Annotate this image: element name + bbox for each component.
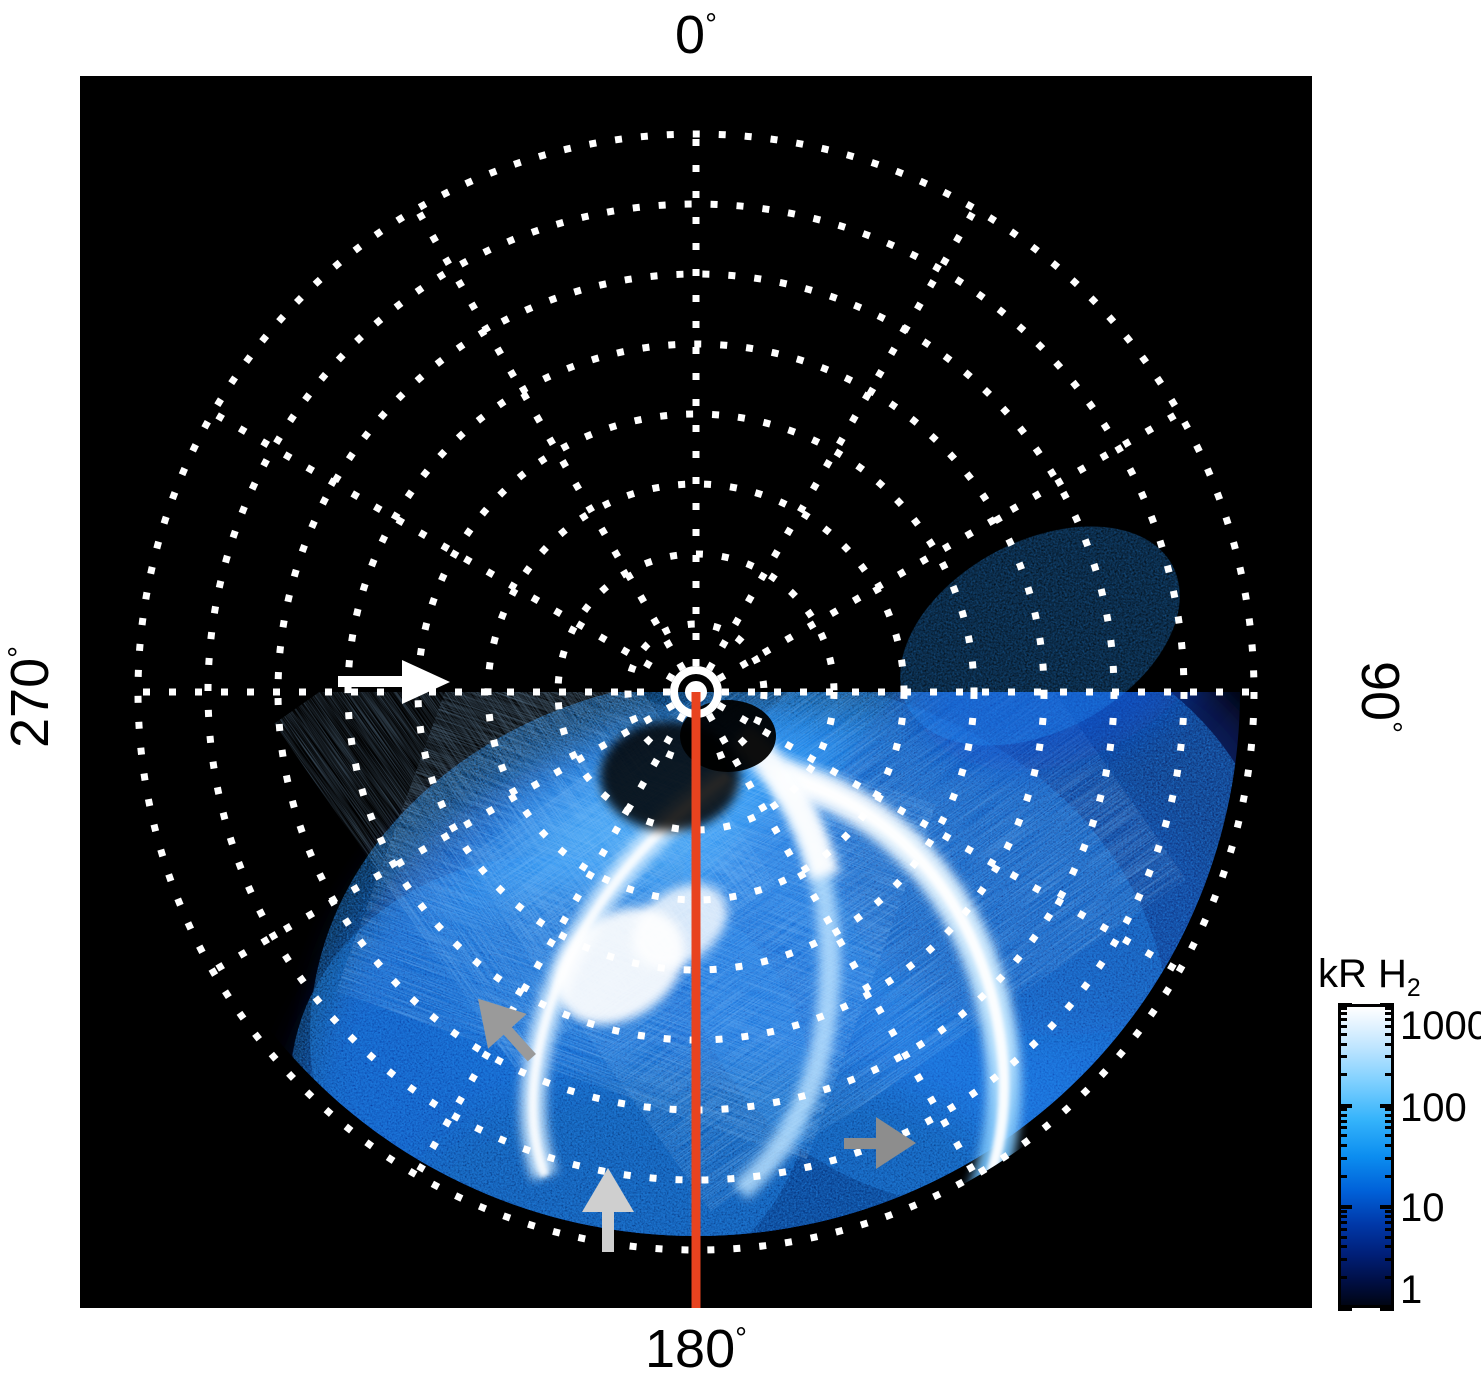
colorbar-minor-tick [1338,1012,1347,1015]
colorbar-minor-tick [1385,1175,1394,1178]
colorbar-minor-tick [1338,1276,1347,1279]
colorbar-minor-tick [1385,1007,1394,1010]
colorbar-minor-tick [1338,1043,1347,1046]
axis-label-bottom: 180° [0,1322,1392,1376]
colorbar-minor-tick [1385,1120,1394,1123]
colorbar-minor-tick [1385,1126,1394,1129]
colorbar-major-tick [1338,1307,1352,1311]
colorbar-minor-tick [1385,1215,1394,1218]
colorbar-tick-1: 1 [1400,1268,1422,1313]
colorbar-minor-tick [1385,1043,1394,1046]
polar-image-svg [80,76,1312,1308]
colorbar-minor-tick [1338,1144,1347,1147]
colorbar-minor-tick [1385,1114,1394,1117]
colorbar-minor-tick [1338,1007,1347,1010]
colorbar-minor-tick [1338,1221,1347,1224]
colorbar-minor-tick [1338,1258,1347,1261]
colorbar-major-tick [1338,1104,1352,1108]
colorbar-minor-tick [1385,1134,1394,1137]
colorbar-minor-tick [1338,1215,1347,1218]
colorbar-minor-tick [1385,1157,1394,1160]
colorbar-minor-tick [1385,1258,1394,1261]
colorbar-minor-tick [1338,1210,1347,1213]
colorbar-minor-tick [1338,1108,1347,1111]
colorbar-minor-tick [1385,1012,1394,1015]
colorbar-minor-tick [1385,1144,1394,1147]
colorbar-minor-tick [1338,1228,1347,1231]
axis-label-left: 270° [3,607,57,787]
colorbar-minor-tick [1385,1276,1394,1279]
colorbar-major-tick [1380,1104,1394,1108]
colorbar-minor-tick [1385,1073,1394,1076]
colorbar-tick-10: 10 [1400,1186,1445,1231]
colorbar-major-tick [1380,1003,1394,1007]
colorbar-minor-tick [1385,1236,1394,1239]
figure-root: 0° 180° 270° 90° [0,0,1481,1386]
colorbar-minor-tick [1338,1236,1347,1239]
colorbar-tick-1000: 1000 [1400,1004,1481,1049]
colorbar-minor-tick [1338,1126,1347,1129]
colorbar-minor-tick [1338,1055,1347,1058]
colorbar-minor-tick [1385,1018,1394,1021]
colorbar-major-tick [1338,1003,1352,1007]
colorbar-minor-tick [1385,1245,1394,1248]
colorbar-minor-tick [1385,1228,1394,1231]
colorbar-minor-tick [1385,1210,1394,1213]
colorbar-minor-tick [1385,1033,1394,1036]
colorbar-minor-tick [1385,1221,1394,1224]
polar-plot-panel [80,76,1312,1308]
colorbar-minor-tick [1338,1073,1347,1076]
colorbar-minor-tick [1338,1114,1347,1117]
colorbar-minor-tick [1385,1025,1394,1028]
axis-label-right: 90° [1353,607,1407,787]
colorbar-minor-tick [1385,1055,1394,1058]
colorbar-minor-tick [1338,1175,1347,1178]
colorbar-minor-tick [1338,1157,1347,1160]
colorbar-minor-tick [1338,1245,1347,1248]
colorbar-minor-tick [1338,1033,1347,1036]
colorbar-minor-tick [1385,1108,1394,1111]
colorbar-minor-tick [1338,1025,1347,1028]
colorbar-minor-tick [1338,1018,1347,1021]
colorbar-major-tick [1338,1205,1352,1209]
colorbar-title: kR H2 [1318,952,1421,1003]
axis-label-top: 0° [0,8,1392,62]
colorbar-major-tick [1380,1205,1394,1209]
colorbar-major-tick [1380,1307,1394,1311]
colorbar-tick-100: 100 [1400,1086,1467,1131]
colorbar-minor-tick [1338,1120,1347,1123]
colorbar-minor-tick [1338,1134,1347,1137]
